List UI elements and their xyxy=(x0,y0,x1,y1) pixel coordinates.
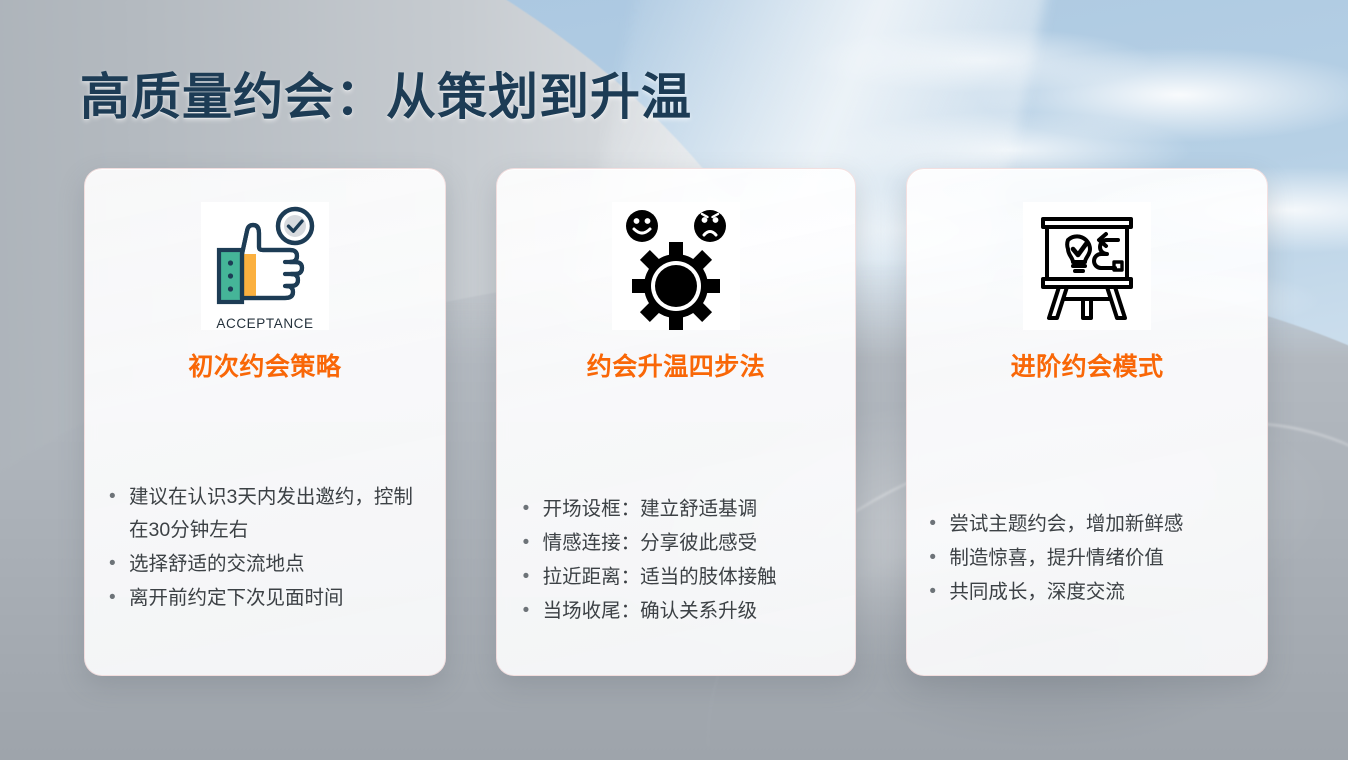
gear-icon xyxy=(632,242,720,330)
card-group: ACCEPTANCE 初次约会策略 建议在认识3天内发出邀约，控制在30分钟左右… xyxy=(84,168,1268,676)
list-item: 选择舒适的交流地点 xyxy=(107,548,427,581)
emotion-faces-gear-icon xyxy=(612,202,740,330)
list-item: 尝试主题约会，增加新鲜感 xyxy=(927,508,1249,541)
card-bullet-list: 尝试主题约会，增加新鲜感 制造惊喜，提升情绪价值 共同成长，深度交流 xyxy=(907,508,1267,610)
card-advanced-date-modes[interactable]: 进阶约会模式 尝试主题约会，增加新鲜感 制造惊喜，提升情绪价值 共同成长，深度交… xyxy=(906,168,1268,676)
card-bullet-list: 建议在认识3天内发出邀约，控制在30分钟左右 选择舒适的交流地点 离开前约定下次… xyxy=(85,481,445,616)
list-item: 当场收尾：确认关系升级 xyxy=(521,595,838,628)
list-item: 开场设框：建立舒适基调 xyxy=(521,493,838,526)
card-heading: 约会升温四步法 xyxy=(587,347,766,383)
list-item: 拉近距离：适当的肢体接触 xyxy=(521,561,838,594)
presentation-slide: 高质量约会：从策划到升温 xyxy=(0,0,1348,760)
list-item: 共同成长，深度交流 xyxy=(927,576,1249,609)
list-item: 制造惊喜，提升情绪价值 xyxy=(927,542,1249,575)
list-item: 情感连接：分享彼此感受 xyxy=(521,527,838,560)
list-item: 离开前约定下次见面时间 xyxy=(107,582,427,615)
happy-face-icon xyxy=(626,210,658,242)
thumbs-up-acceptance-icon: ACCEPTANCE xyxy=(201,202,329,330)
list-item: 建议在认识3天内发出邀约，控制在30分钟左右 xyxy=(107,481,427,547)
whiteboard-idea-strategy-icon xyxy=(1023,202,1151,330)
sad-face-icon xyxy=(694,210,726,242)
card-bullet-list: 开场设框：建立舒适基调 情感连接：分享彼此感受 拉近距离：适当的肢体接触 当场收… xyxy=(497,493,856,629)
card-heading: 初次约会策略 xyxy=(188,347,341,383)
page-title: 高质量约会：从策划到升温 xyxy=(80,57,692,129)
card-first-date-strategy[interactable]: ACCEPTANCE 初次约会策略 建议在认识3天内发出邀约，控制在30分钟左右… xyxy=(84,168,446,676)
icon-caption: ACCEPTANCE xyxy=(216,316,313,330)
card-four-step-warmup[interactable]: 约会升温四步法 开场设框：建立舒适基调 情感连接：分享彼此感受 拉近距离：适当的… xyxy=(496,168,857,676)
card-heading: 进阶约会模式 xyxy=(1011,347,1164,383)
